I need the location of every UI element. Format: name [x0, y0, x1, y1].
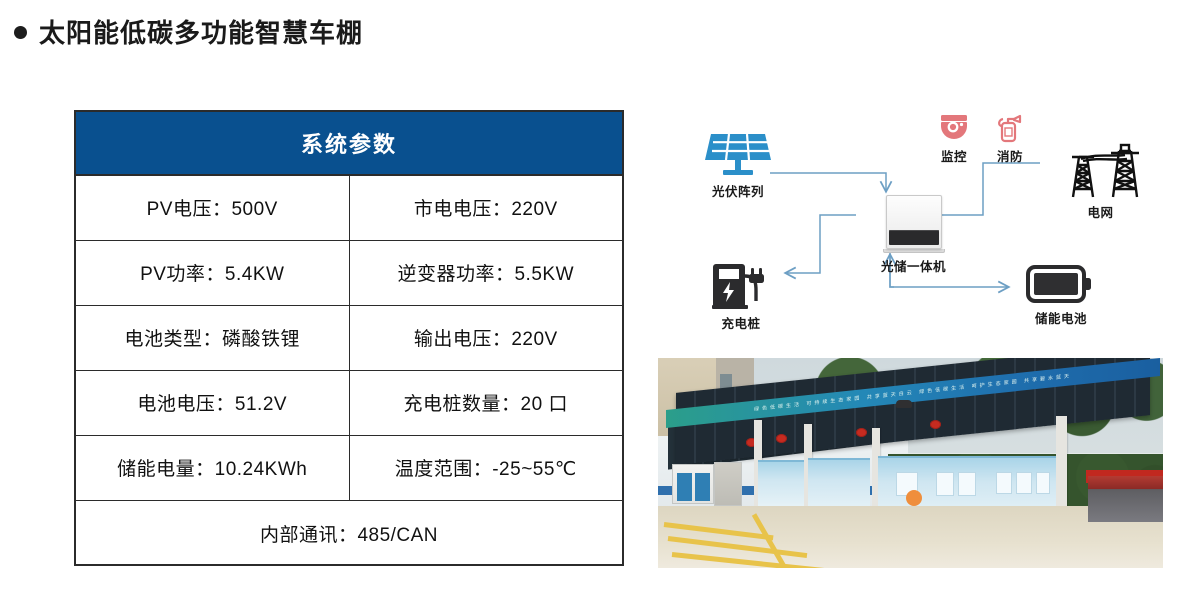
node-battery: 储能电池 — [1006, 263, 1116, 327]
solar-panel-icon — [701, 130, 775, 178]
photo-camera-icon — [896, 400, 912, 408]
node-safety-group: 监控 消防 — [930, 113, 1040, 165]
table-row: 内部通讯：485/CAN — [76, 500, 622, 566]
cell-internal-comms: 内部通讯：485/CAN — [76, 500, 622, 566]
node-charger: 充电桩 — [696, 260, 786, 332]
link-inverter-to-charger — [786, 215, 856, 273]
table-row: 电池电压：51.2V 充电桩数量：20 口 — [76, 370, 622, 435]
table-header-cell: 系统参数 — [76, 112, 622, 175]
cell-pv-power: PV功率：5.4KW — [76, 240, 349, 305]
cell-output-voltage: 输出电压：220V — [349, 305, 622, 370]
node-fire-label: 消防 — [986, 146, 1034, 165]
cell-inverter-power: 逆变器功率：5.5KW — [349, 240, 622, 305]
table-row: PV电压：500V 市电电压：220V — [76, 175, 622, 240]
photo-board-accent — [906, 490, 922, 506]
table-row: 储能电量：10.24KWh 温度范围：-25~55℃ — [76, 435, 622, 500]
photo-lantern — [776, 434, 787, 443]
system-parameters-table: 系统参数 PV电压：500V 市电电压：220V PV功率：5.4KW 逆变器功… — [74, 110, 624, 566]
node-inverter: 光储一体机 — [856, 195, 971, 275]
node-inverter-label: 光储一体机 — [856, 256, 971, 275]
fire-extinguisher-icon — [995, 113, 1025, 143]
cell-pv-voltage: PV电压：500V — [76, 175, 349, 240]
inverter-base — [883, 249, 945, 253]
cell-storage-capacity: 储能电量：10.24KWh — [76, 435, 349, 500]
battery-icon — [1026, 263, 1096, 305]
ev-charging-pile-icon — [710, 260, 772, 310]
page-title-text: 太阳能低碳多功能智慧车棚 — [39, 13, 363, 50]
slide-page: 太阳能低碳多功能智慧车棚 系统参数 PV电压：500V 市电电压：220V PV… — [0, 0, 1200, 605]
photo-lantern — [930, 420, 941, 429]
node-pv-array-label: 光伏阵列 — [688, 181, 788, 200]
photo-lantern — [856, 428, 867, 437]
page-title: 太阳能低碳多功能智慧车棚 — [14, 13, 363, 50]
cell-battery-voltage: 电池电压：51.2V — [76, 370, 349, 435]
table-header-row: 系统参数 — [76, 112, 622, 175]
node-grid: 电网 — [1048, 143, 1153, 221]
cell-charger-count: 充电桩数量：20 口 — [349, 370, 622, 435]
node-monitor-label: 监控 — [930, 146, 978, 165]
node-battery-label: 储能电池 — [1006, 308, 1116, 327]
cctv-camera-icon — [939, 113, 969, 143]
photo-info-board — [808, 458, 870, 510]
node-fire: 消防 — [986, 113, 1034, 165]
table-row: PV功率：5.4KW 逆变器功率：5.5KW — [76, 240, 622, 305]
photo-parked-cars — [1088, 476, 1163, 522]
node-grid-label: 电网 — [1048, 202, 1153, 221]
node-monitor: 监控 — [930, 113, 978, 165]
photo-info-board — [758, 460, 804, 506]
cell-battery-type: 电池类型：磷酸铁锂 — [76, 305, 349, 370]
inverter-cabinet-icon — [886, 195, 942, 249]
photo-cabinet — [714, 462, 742, 506]
node-charger-label: 充电桩 — [696, 313, 786, 332]
carport-photo: 绿色低碳生活 可持续生态家园 共享蓝天白云 绿色低碳生活 呵护生态家园 共享碧水… — [658, 358, 1163, 568]
bullet-dot-icon — [14, 26, 27, 39]
system-topology-diagram: 光伏阵列 监控 — [658, 105, 1168, 350]
power-tower-icon — [1059, 143, 1143, 199]
cell-mains-voltage: 市电电压：220V — [349, 175, 622, 240]
table-row: 电池类型：磷酸铁锂 输出电压：220V — [76, 305, 622, 370]
photo-cabinet — [672, 464, 714, 504]
cell-temperature-range: 温度范围：-25~55℃ — [349, 435, 622, 500]
node-pv-array: 光伏阵列 — [688, 130, 788, 200]
